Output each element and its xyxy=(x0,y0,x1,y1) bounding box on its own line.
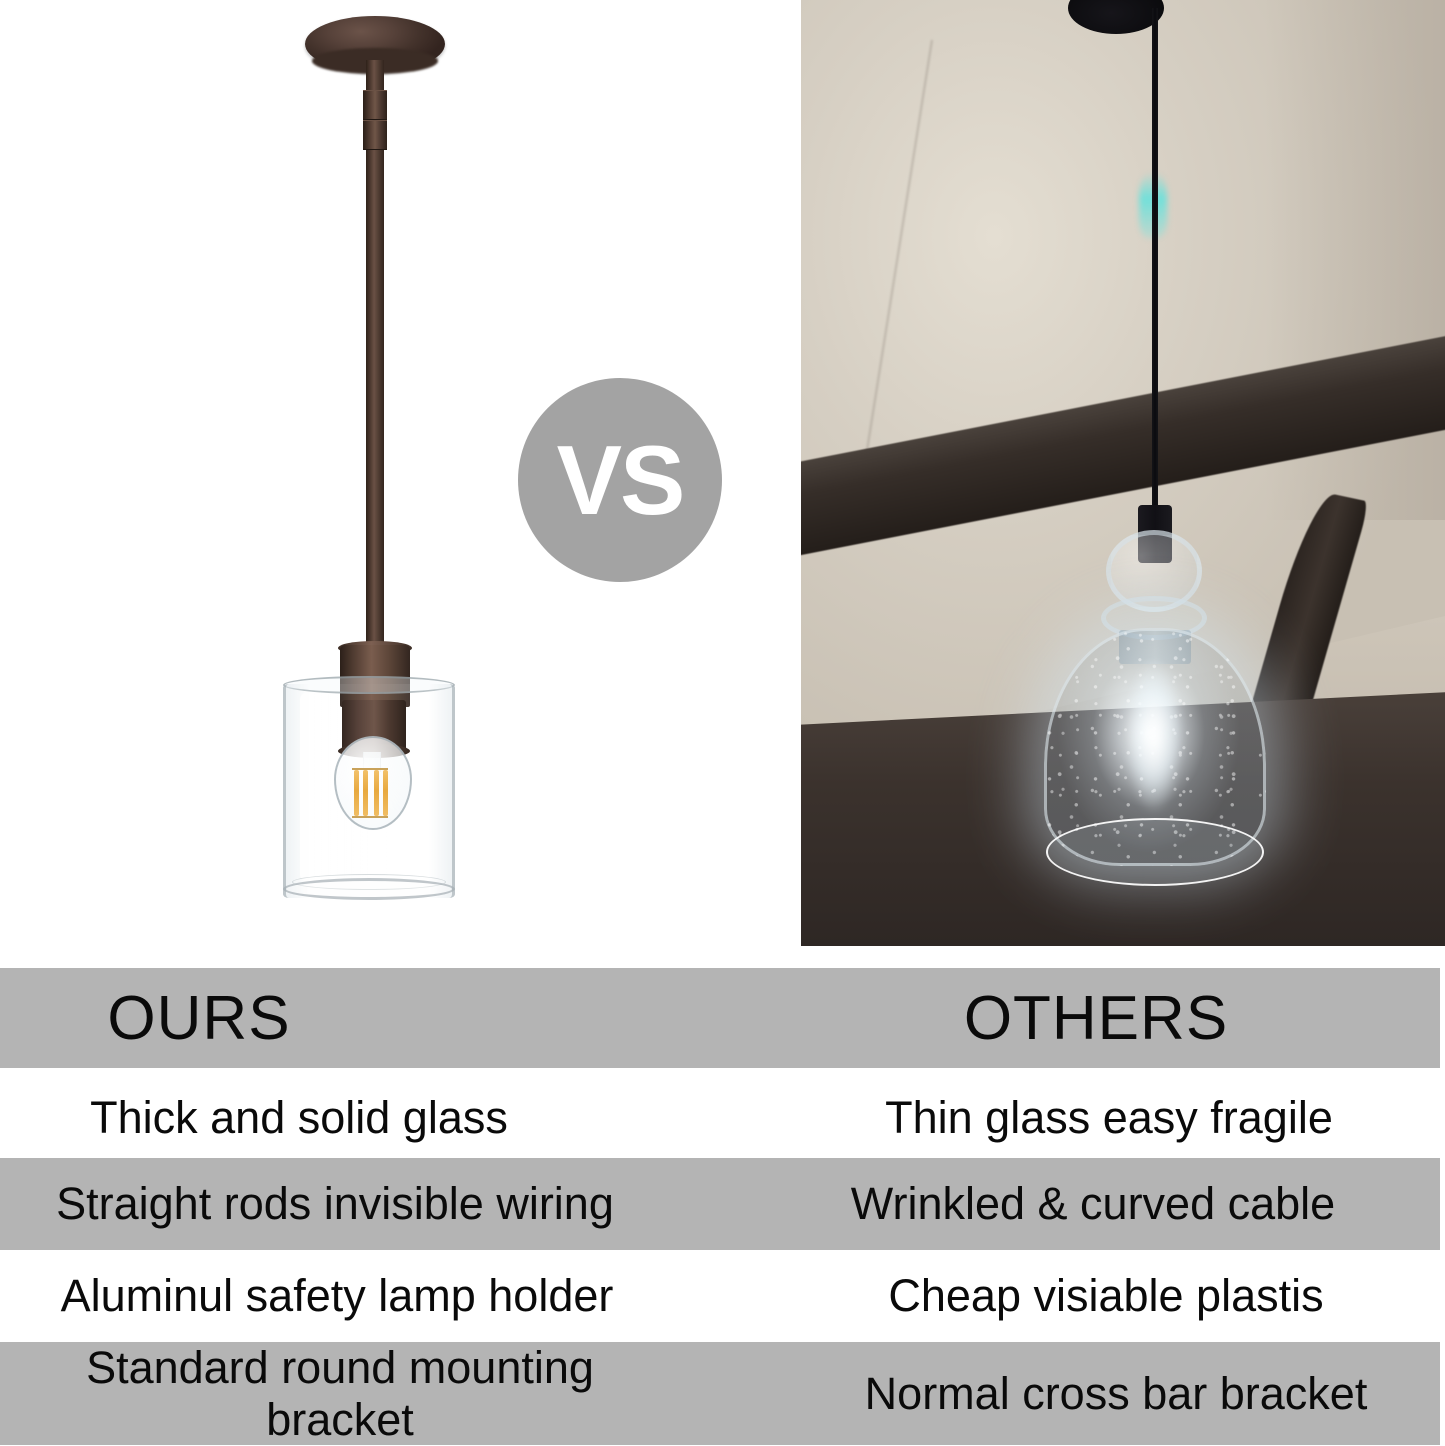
shade-bottom-rim xyxy=(283,878,455,900)
cell-ours-feature: Aluminul safety lamp holder xyxy=(0,1250,720,1342)
shade-highlight xyxy=(300,692,316,882)
header-others: OTHERS xyxy=(720,968,1440,1068)
rod-coupler-lower xyxy=(363,120,387,150)
comparison-hero: VS xyxy=(0,0,1445,960)
competitor-cable xyxy=(1152,8,1158,518)
cell-others-feature: Thin glass easy fragile xyxy=(720,1072,1440,1164)
cell-others-feature: Cheap visiable plastis xyxy=(720,1250,1440,1342)
others-product-photo xyxy=(801,0,1445,946)
table-row: Standard round mounting bracket Normal c… xyxy=(0,1342,1440,1445)
cell-others-feature: Wrinkled & curved cable xyxy=(720,1158,1440,1250)
table-header-row: OURS OTHERS xyxy=(0,968,1440,1068)
header-ours: OURS xyxy=(0,968,720,1068)
cell-others-feature: Normal cross bar bracket xyxy=(720,1342,1440,1445)
filament-strand xyxy=(354,770,359,816)
rod-coupler-upper xyxy=(363,90,387,120)
comparison-table: OURS OTHERS Thick and solid glass Thin g… xyxy=(0,960,1445,1445)
filament-strand xyxy=(363,770,368,816)
table-row: Straight rods invisible wiring Wrinkled … xyxy=(0,1158,1440,1250)
table-row: Aluminul safety lamp holder Cheap visiab… xyxy=(0,1250,1440,1342)
table-row: Thick and solid glass Thin glass easy fr… xyxy=(0,1072,1440,1164)
competitor-shade-rim xyxy=(1046,818,1264,886)
cell-ours-feature: Standard round mounting bracket xyxy=(0,1342,720,1445)
vs-label: VS xyxy=(557,431,684,529)
filament-strand xyxy=(374,770,379,816)
filament-strand xyxy=(383,770,388,816)
vs-badge: VS xyxy=(518,378,722,582)
cell-ours-feature: Thick and solid glass xyxy=(0,1072,720,1164)
filament-bar-bottom xyxy=(352,816,388,818)
cell-ours-feature: Straight rods invisible wiring xyxy=(0,1158,720,1250)
